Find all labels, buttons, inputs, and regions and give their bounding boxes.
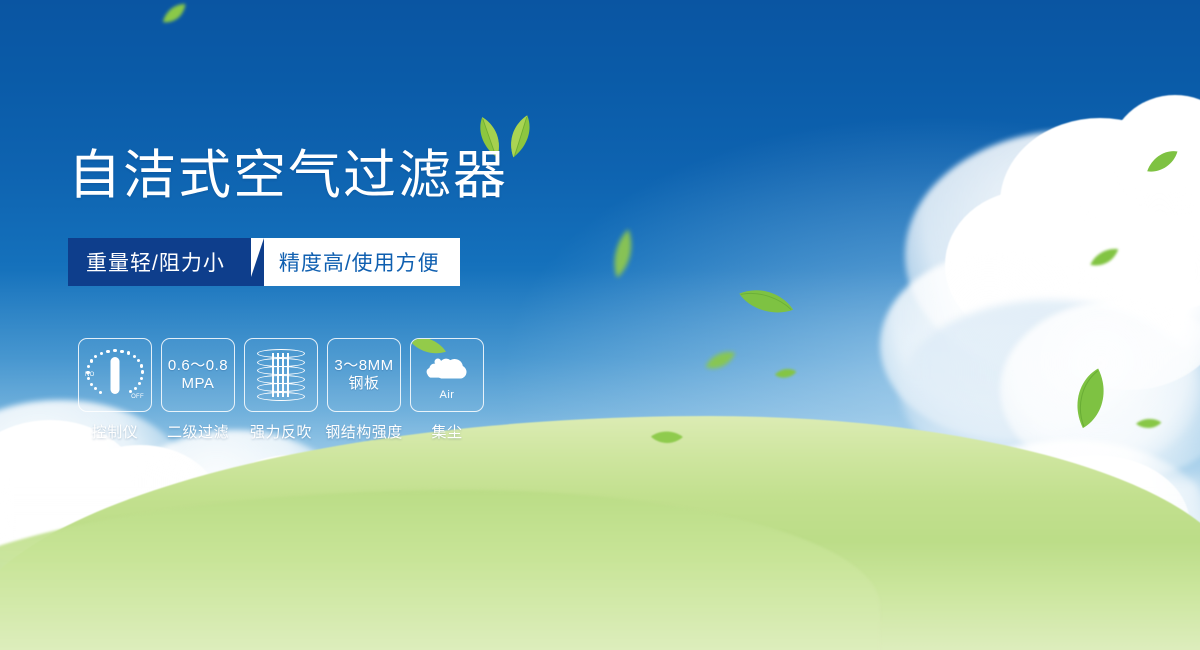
steel-line-2: 钢板 bbox=[334, 375, 393, 393]
feature-item-blowback[interactable]: 强力反吹 bbox=[244, 338, 318, 442]
feature-label-filter: 二级过滤 bbox=[161, 421, 235, 442]
pressure-line-2: MPA bbox=[168, 375, 228, 393]
gauge-label-no: NO bbox=[85, 372, 95, 378]
feature-list: NO OFF 控制仪 0.6～0.8 MPA 二级过滤 bbox=[78, 338, 484, 442]
pressure-line-1: 0.6～0.8 bbox=[168, 357, 228, 375]
feature-icon-box bbox=[244, 338, 318, 412]
gauge-needle-icon bbox=[111, 357, 120, 394]
feature-icon-box: NO OFF bbox=[78, 338, 152, 412]
ribbon-segment-right: 精度高/使用方便 bbox=[249, 238, 460, 286]
product-banner: 自洁式空气过滤器 重量轻/阻力小 精度高/使用方便 bbox=[0, 0, 1200, 650]
feature-icon-box: 3～8MM 钢板 bbox=[327, 338, 401, 412]
ribbon-segment-left: 重量轻/阻力小 bbox=[68, 238, 251, 286]
feature-label-control: 控制仪 bbox=[78, 421, 152, 442]
steel-line-1: 3～8MM bbox=[334, 357, 393, 375]
feature-item-control[interactable]: NO OFF 控制仪 bbox=[78, 338, 152, 442]
feature-item-filter[interactable]: 0.6～0.8 MPA 二级过滤 bbox=[161, 338, 235, 442]
pressure-text-icon: 0.6～0.8 MPA bbox=[168, 357, 228, 392]
feature-item-steel[interactable]: 3～8MM 钢板 钢结构强度 bbox=[327, 338, 401, 442]
subtitle-ribbon: 重量轻/阻力小 精度高/使用方便 bbox=[68, 238, 460, 286]
feature-label-steel: 钢结构强度 bbox=[314, 421, 414, 442]
gauge-label-off: OFF bbox=[131, 394, 144, 400]
feature-label-blowback: 强力反吹 bbox=[244, 421, 318, 442]
steel-text-icon: 3～8MM 钢板 bbox=[334, 357, 393, 392]
cloud-air-label: Air bbox=[418, 389, 476, 401]
feature-icon-box: Air bbox=[410, 338, 484, 412]
feature-icon-box: 0.6～0.8 MPA bbox=[161, 338, 235, 412]
page-title: 自洁式空气过滤器 bbox=[68, 146, 508, 205]
cloud-air-icon: Air bbox=[418, 351, 476, 399]
gauge-icon: NO OFF bbox=[86, 346, 144, 404]
feature-label-dust: 集尘 bbox=[410, 421, 484, 442]
feature-item-dust[interactable]: Air 集尘 bbox=[410, 338, 484, 442]
banner-content: 自洁式空气过滤器 重量轻/阻力小 精度高/使用方便 bbox=[0, 0, 1200, 650]
coil-icon bbox=[257, 349, 305, 401]
